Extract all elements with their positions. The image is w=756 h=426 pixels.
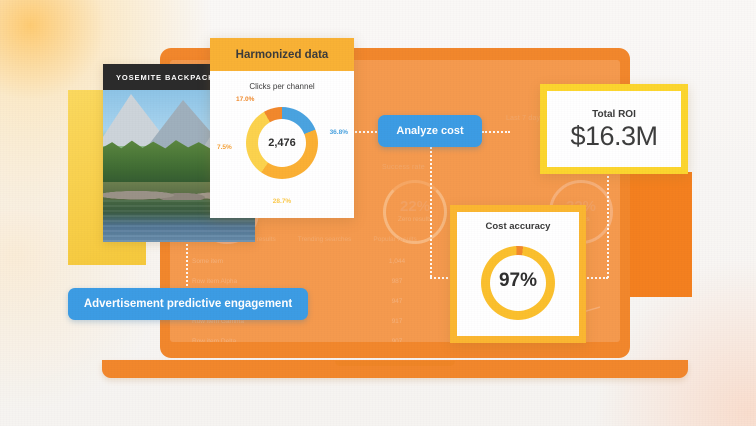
cost-accuracy-value: 97% bbox=[457, 270, 579, 292]
grain-overlay bbox=[0, 0, 756, 426]
donut-center-value: 2,476 bbox=[246, 107, 318, 179]
illustration-stage: Last 7 days 09/08/2020 Search rate Succe… bbox=[0, 0, 756, 426]
